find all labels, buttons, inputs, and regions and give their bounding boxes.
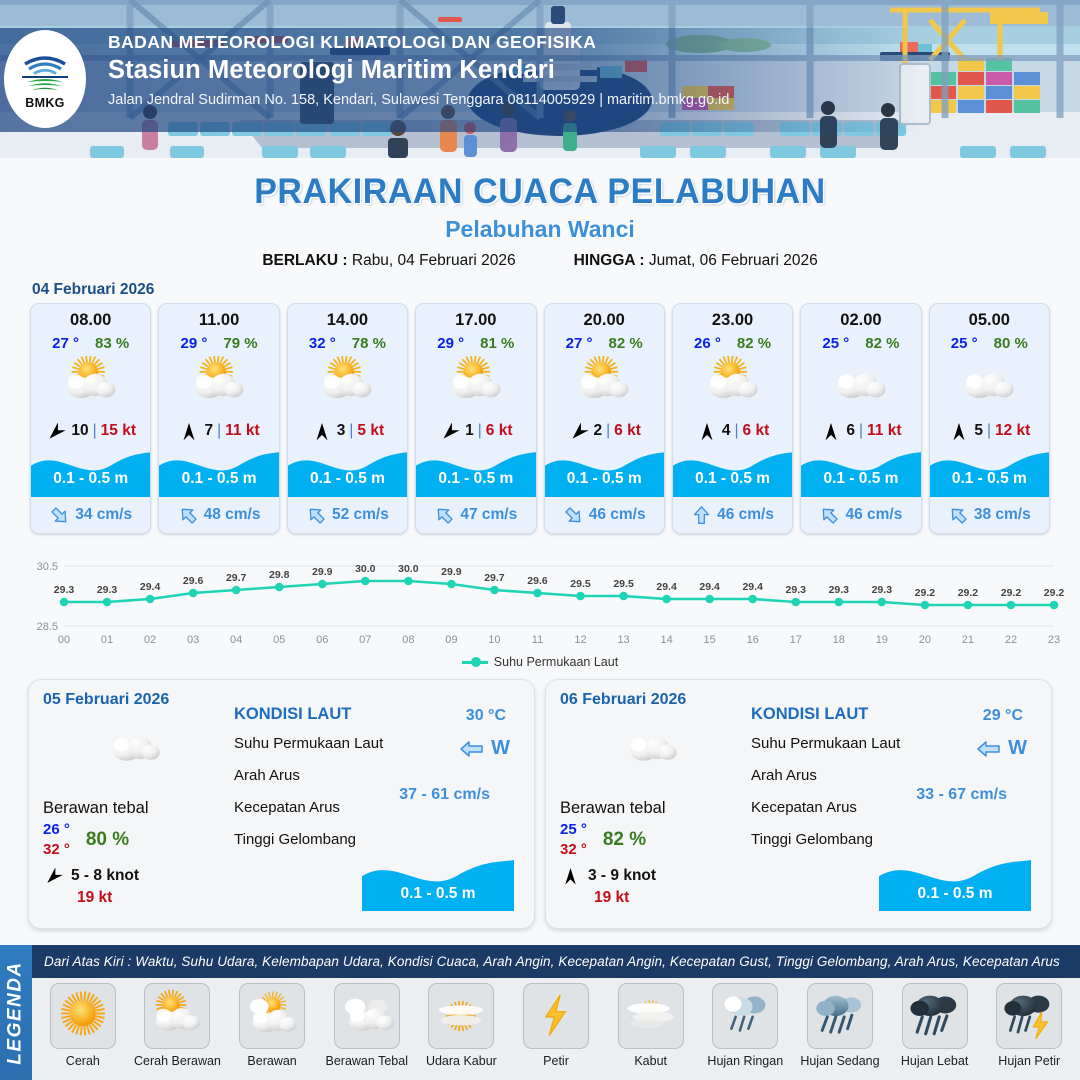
card-current-row: 46 cm/s (545, 497, 664, 533)
current-direction-group: W (459, 737, 510, 760)
port-name: Pelabuhan Wanci (0, 216, 1080, 243)
sea-surface-temperature-value: 30 °C (466, 707, 506, 725)
card-current-speed: 46 cm/s (717, 506, 774, 524)
svg-text:29.3: 29.3 (829, 584, 850, 596)
daily-wind-row: 3 - 9 knot (560, 867, 745, 885)
page-title: PRAKIRAAN CUACA PELABUHAN (16, 172, 1064, 212)
wind-direction-arrow-icon (560, 868, 581, 884)
legend-item: Cerah Berawan (133, 983, 223, 1068)
hourly-card: 20.00 27 ° 82 % 2 | 6 kt 0.1 - (544, 303, 665, 534)
legend-item: Hujan Ringan (700, 983, 790, 1068)
card-humidity: 82 % (609, 335, 643, 352)
card-temp-humidity: 29 ° 79 % (159, 335, 278, 352)
cloudy-icon (956, 356, 1022, 414)
current-direction-arrow-icon (691, 505, 712, 526)
current-direction-arrow-icon (819, 505, 840, 526)
daily-wind-gust: 19 kt (77, 889, 228, 907)
card-wind-row: 2 | 6 kt (545, 419, 664, 443)
card-humidity: 78 % (352, 335, 386, 352)
svg-text:29.7: 29.7 (484, 572, 505, 584)
legend-icon-tile (618, 983, 684, 1049)
svg-text:00: 00 (58, 634, 70, 646)
card-wave-height: 0.1 - 0.5 m (801, 470, 920, 488)
card-current-speed: 46 cm/s (845, 506, 902, 524)
svg-text:21: 21 (962, 634, 974, 646)
wind-direction-arrow-icon (311, 423, 333, 440)
card-air-temperature: 26 ° (694, 335, 721, 352)
card-wave-block: 0.1 - 0.5 m (416, 445, 535, 497)
hourly-card: 02.00 25 ° 82 % 6 | 11 kt 0.1 (800, 303, 921, 534)
daily-sea-col: KONDISI LAUT Suhu Permukaan Laut Arah Ar… (745, 691, 1037, 917)
current-direction-arrow-icon (819, 505, 840, 526)
card-weather-icon-wrap (673, 354, 792, 416)
svg-text:29.9: 29.9 (441, 566, 462, 578)
card-humidity: 80 % (994, 335, 1028, 352)
legend-item: Petir (511, 983, 601, 1068)
station-name: Stasiun Meteorologi Maritim Kendari (108, 56, 729, 85)
card-time: 23.00 (673, 311, 792, 330)
legend-item-label: Petir (543, 1054, 569, 1068)
card-wind-separator: | (606, 422, 610, 440)
card-wind-separator: | (349, 422, 353, 440)
card-wind-separator: | (217, 422, 221, 440)
daily-wave-height: 0.1 - 0.5 m (362, 885, 514, 903)
svg-text:19: 19 (876, 634, 888, 646)
svg-text:29.5: 29.5 (613, 578, 634, 590)
legend-item-label: Hujan Petir (998, 1054, 1060, 1068)
svg-text:14: 14 (660, 634, 672, 646)
card-wind-speed: 3 (337, 422, 346, 440)
card-wave-height: 0.1 - 0.5 m (416, 470, 535, 488)
wind-direction-arrow-icon (439, 423, 461, 440)
current-direction-value: W (491, 737, 510, 760)
wind-direction-arrow-icon (820, 423, 842, 441)
svg-text:29.3: 29.3 (786, 584, 807, 596)
card-temp-humidity: 27 ° 82 % (545, 335, 664, 352)
current-direction-arrow-icon (49, 505, 70, 526)
card-time: 20.00 (545, 311, 664, 330)
card-current-row: 34 cm/s (31, 497, 150, 533)
card-temp-humidity: 29 ° 81 % (416, 335, 535, 352)
svg-text:17: 17 (790, 634, 802, 646)
card-wind-gust: 5 kt (357, 422, 384, 440)
daily-wave-block: 0.1 - 0.5 m (362, 853, 514, 911)
card-wind-gust: 11 kt (225, 422, 259, 440)
cloudy-icon (622, 720, 684, 776)
card-wind-row: 5 | 12 kt (930, 419, 1049, 443)
hourly-card: 11.00 29 ° 79 % 7 | 11 kt 0.1 (158, 303, 279, 534)
card-wind-separator: | (987, 422, 991, 440)
legend-icon-tile (428, 983, 494, 1049)
legend-note: Dari Atas Kiri : Waktu, Suhu Udara, Kele… (32, 945, 1080, 978)
svg-text:20: 20 (919, 634, 931, 646)
svg-text:07: 07 (359, 634, 371, 646)
daily-weather-icon-wrap (43, 717, 228, 779)
current-direction-arrow-icon (306, 505, 327, 526)
current-direction-arrow-icon (434, 505, 455, 526)
arrow-left-icon (459, 739, 485, 759)
daily-condition: Berawan tebal (43, 799, 228, 818)
card-temp-humidity: 27 ° 83 % (31, 335, 150, 352)
sea-surface-temperature-value: 29 °C (983, 707, 1023, 725)
svg-text:01: 01 (101, 634, 113, 646)
card-wind-speed: 2 (594, 422, 603, 440)
daily-wind-range: 3 - 9 knot (588, 867, 656, 885)
partly-cloudy-icon (186, 356, 252, 414)
legend-item-label: Hujan Ringan (707, 1054, 783, 1068)
arrow-left-icon (976, 739, 1002, 759)
svg-text:06: 06 (316, 634, 328, 646)
current-direction-arrow-icon (306, 505, 327, 526)
bmkg-logo: BMKG (4, 30, 86, 128)
agency-name: BADAN METEOROLOGI KLIMATOLOGI DAN GEOFIS… (108, 32, 729, 53)
hourly-card: 05.00 25 ° 80 % 5 | 12 kt 0.1 (929, 303, 1050, 534)
legend-item-label: Cerah Berawan (134, 1054, 221, 1068)
card-current-speed: 48 cm/s (204, 506, 261, 524)
svg-text:30.5: 30.5 (37, 561, 58, 573)
svg-text:03: 03 (187, 634, 199, 646)
card-weather-icon-wrap (801, 354, 920, 416)
svg-text:12: 12 (574, 634, 586, 646)
card-weather-icon-wrap (545, 354, 664, 416)
card-wind-gust: 11 kt (867, 422, 901, 440)
legend-section: LEGENDA Dari Atas Kiri : Waktu, Suhu Uda… (0, 945, 1080, 1080)
legend-item-label: Kabut (634, 1054, 667, 1068)
legend-icon-tile (807, 983, 873, 1049)
daily-temp-max: 32 ° (43, 840, 70, 860)
card-current-row: 47 cm/s (416, 497, 535, 533)
card-wind-gust: 6 kt (614, 422, 641, 440)
card-wind-speed: 1 (465, 422, 474, 440)
svg-text:29.3: 29.3 (872, 584, 893, 596)
wind-direction-arrow-icon (820, 423, 842, 440)
partly-cloudy-icon (700, 356, 766, 414)
svg-text:29.4: 29.4 (699, 581, 720, 593)
validity-row: BERLAKU : Rabu, 04 Februari 2026 HINGGA … (0, 252, 1080, 270)
cloudy-icon (105, 720, 167, 776)
current-direction-arrow-icon (691, 505, 712, 526)
wind-direction-arrow-icon (696, 423, 718, 441)
card-wind-row: 1 | 6 kt (416, 419, 535, 443)
svg-text:09: 09 (445, 634, 457, 646)
wind-direction-arrow-icon (948, 423, 970, 440)
card-humidity: 81 % (480, 335, 514, 352)
card-wind-gust: 15 kt (101, 422, 136, 440)
card-wave-block: 0.1 - 0.5 m (801, 445, 920, 497)
haze-icon (433, 988, 489, 1044)
daily-temps-row: 25 ° 32 ° 82 % (560, 820, 745, 859)
hourly-card: 14.00 32 ° 78 % 3 | 5 kt 0.1 - (287, 303, 408, 534)
legend-item: Berawan Tebal (322, 983, 412, 1068)
page-header: BMKG BADAN METEOROLOGI KLIMATOLOGI DAN G… (0, 0, 1080, 158)
hourly-card: 08.00 27 ° 83 % 10 | 15 kt 0.1 (30, 303, 151, 534)
thunderstorm-icon (1001, 988, 1057, 1044)
svg-text:02: 02 (144, 634, 156, 646)
sst-chart: 30.528.529.30029.30129.40229.60329.70429… (16, 548, 1064, 653)
hourly-date-label: 04 Februari 2026 (32, 281, 1080, 299)
legend-item-label: Berawan (247, 1054, 296, 1068)
sun-cloud-icon (149, 988, 205, 1044)
legend-icon-tile (50, 983, 116, 1049)
svg-text:29.7: 29.7 (226, 572, 247, 584)
card-wind-row: 6 | 11 kt (801, 419, 920, 443)
card-weather-icon-wrap (159, 354, 278, 416)
daily-wind-row: 5 - 8 knot (43, 867, 228, 885)
card-wind-speed: 7 (204, 422, 213, 440)
daily-humidity: 80 % (86, 829, 129, 851)
card-wind-speed: 5 (974, 422, 983, 440)
bmkg-logo-label: BMKG (25, 96, 64, 110)
card-wave-height: 0.1 - 0.5 m (545, 470, 664, 488)
current-direction-arrow-icon (178, 505, 199, 526)
legend-icon-tile (523, 983, 589, 1049)
sst-chart-canvas: 30.528.529.30029.30129.40229.60329.70429… (16, 548, 1064, 653)
partly-cloudy-icon (58, 356, 124, 414)
current-direction-arrow-icon (563, 505, 584, 526)
wind-direction-arrow-icon (696, 423, 718, 440)
legend-item: Kabut (606, 983, 696, 1068)
moderate-rain-icon (812, 988, 868, 1044)
current-speed-value: 33 - 67 cm/s (916, 786, 1007, 804)
partly-cloudy-icon (571, 356, 637, 414)
hingga-label: HINGGA : (574, 252, 645, 269)
hourly-forecast-row: 08.00 27 ° 83 % 10 | 15 kt 0.1 (0, 303, 1080, 534)
svg-text:29.5: 29.5 (570, 578, 591, 590)
card-wave-block: 0.1 - 0.5 m (159, 445, 278, 497)
lightning-icon (528, 988, 584, 1044)
card-wind-row: 10 | 15 kt (31, 419, 150, 443)
card-weather-icon-wrap (288, 354, 407, 416)
sun-icon (55, 988, 111, 1044)
legend-item: Hujan Petir (984, 983, 1074, 1068)
card-temp-humidity: 25 ° 82 % (801, 335, 920, 352)
card-temp-humidity: 26 ° 82 % (673, 335, 792, 352)
card-current-speed: 34 cm/s (75, 506, 132, 524)
wind-direction-arrow-icon (568, 423, 590, 440)
card-current-row: 46 cm/s (801, 497, 920, 533)
card-wind-separator: | (93, 422, 97, 440)
card-current-speed: 52 cm/s (332, 506, 389, 524)
card-wave-height: 0.1 - 0.5 m (31, 470, 150, 488)
wind-direction-arrow-icon (43, 868, 64, 884)
card-time: 17.00 (416, 311, 535, 330)
card-current-row: 46 cm/s (673, 497, 792, 533)
daily-wind-range: 5 - 8 knot (71, 867, 139, 885)
title-block: PRAKIRAAN CUACA PELABUHAN Pelabuhan Wanc… (0, 172, 1080, 270)
svg-text:05: 05 (273, 634, 285, 646)
current-speed-value: 37 - 61 cm/s (399, 786, 490, 804)
current-direction-arrow-icon (563, 505, 584, 526)
card-wave-block: 0.1 - 0.5 m (545, 445, 664, 497)
hourly-card: 23.00 26 ° 82 % 4 | 6 kt 0.1 - (672, 303, 793, 534)
card-air-temperature: 29 ° (181, 335, 208, 352)
card-current-speed: 47 cm/s (460, 506, 517, 524)
daily-date: 05 Februari 2026 (43, 691, 228, 709)
daily-temp-min: 26 ° (43, 820, 70, 840)
legend-side-bar: LEGENDA (0, 945, 32, 1080)
daily-left-col: 05 Februari 2026 Berawan tebal 26 ° 32 °… (43, 691, 228, 917)
svg-text:29.8: 29.8 (269, 569, 290, 581)
bmkg-logo-mark (19, 49, 71, 95)
daily-temp-min: 25 ° (560, 820, 587, 840)
legend-side-label: LEGENDA (5, 961, 27, 1064)
card-wave-block: 0.1 - 0.5 m (930, 445, 1049, 497)
daily-forecast-panel: 05 Februari 2026 Berawan tebal 26 ° 32 °… (28, 679, 535, 929)
card-humidity: 83 % (95, 335, 129, 352)
heavy-rain-icon (907, 988, 963, 1044)
svg-text:29.3: 29.3 (54, 584, 75, 596)
card-wind-gust: 12 kt (995, 422, 1030, 440)
card-current-row: 52 cm/s (288, 497, 407, 533)
card-wind-speed: 10 (71, 422, 88, 440)
card-time: 08.00 (31, 311, 150, 330)
card-wave-block: 0.1 - 0.5 m (31, 445, 150, 497)
svg-text:13: 13 (617, 634, 629, 646)
svg-text:04: 04 (230, 634, 242, 646)
wind-direction-arrow-icon (948, 423, 970, 441)
legend-line-swatch (462, 661, 488, 664)
berlaku-value: Rabu, 04 Februari 2026 (352, 252, 516, 269)
wind-direction-arrow-icon (439, 423, 461, 441)
legend-label: Suhu Permukaan Laut (494, 655, 618, 669)
card-time: 14.00 (288, 311, 407, 330)
daily-temps-row: 26 ° 32 ° 80 % (43, 820, 228, 859)
legend-icon-tile (144, 983, 210, 1049)
svg-text:29.2: 29.2 (1001, 587, 1022, 599)
card-temp-humidity: 25 ° 80 % (930, 335, 1049, 352)
sst-chart-legend: Suhu Permukaan Laut (0, 655, 1080, 669)
current-direction-value: W (1008, 737, 1027, 760)
sea-row-label: Tinggi Gelombang (751, 823, 1037, 855)
daily-forecast-panel: 06 Februari 2026 Berawan tebal 25 ° 32 °… (545, 679, 1052, 929)
partly-cloudy-icon (314, 356, 380, 414)
wind-direction-arrow-icon (178, 423, 200, 440)
svg-text:29.6: 29.6 (183, 575, 204, 587)
partly-cloudy-icon (443, 356, 509, 414)
svg-text:22: 22 (1005, 634, 1017, 646)
card-humidity: 82 % (737, 335, 771, 352)
wind-direction-arrow-icon (45, 423, 67, 440)
berlaku-group: BERLAKU : Rabu, 04 Februari 2026 (262, 252, 515, 270)
legend-item-label: Hujan Sedang (800, 1054, 879, 1068)
current-direction-arrow-icon (434, 505, 455, 526)
wind-direction-arrow-icon (45, 423, 67, 441)
svg-text:23: 23 (1048, 634, 1060, 646)
card-wave-block: 0.1 - 0.5 m (673, 445, 792, 497)
card-wave-height: 0.1 - 0.5 m (930, 470, 1049, 488)
legend-item-label: Udara Kabur (426, 1054, 497, 1068)
card-wind-speed: 6 (846, 422, 855, 440)
current-direction-arrow-icon (49, 505, 70, 526)
legend-item: Berawan (227, 983, 317, 1068)
card-time: 02.00 (801, 311, 920, 330)
card-humidity: 82 % (865, 335, 899, 352)
legend-item-label: Hujan Lebat (901, 1054, 968, 1068)
hourly-card: 17.00 29 ° 81 % 1 | 6 kt 0.1 - (415, 303, 536, 534)
svg-text:30.0: 30.0 (355, 563, 376, 575)
card-weather-icon-wrap (930, 354, 1049, 416)
card-weather-icon-wrap (416, 354, 535, 416)
legend-items-row: Cerah Cerah Berawan Berawan (32, 978, 1080, 1068)
card-wind-row: 4 | 6 kt (673, 419, 792, 443)
card-time: 11.00 (159, 311, 278, 330)
daily-temp-col: 25 ° 32 ° (560, 820, 587, 859)
svg-text:29.4: 29.4 (742, 581, 763, 593)
card-wind-separator: | (735, 422, 739, 440)
legend-item: Hujan Sedang (795, 983, 885, 1068)
card-air-temperature: 27 ° (52, 335, 79, 352)
svg-text:29.6: 29.6 (527, 575, 548, 587)
card-wave-height: 0.1 - 0.5 m (673, 470, 792, 488)
sea-row-label: Tinggi Gelombang (234, 823, 520, 855)
legend-icon-tile (334, 983, 400, 1049)
wind-direction-arrow-icon (560, 868, 581, 886)
card-wave-height: 0.1 - 0.5 m (288, 470, 407, 488)
daily-weather-icon-wrap (560, 717, 745, 779)
card-air-temperature: 27 ° (566, 335, 593, 352)
card-current-speed: 46 cm/s (589, 506, 646, 524)
current-direction-arrow-icon (948, 505, 969, 526)
daily-left-col: 06 Februari 2026 Berawan tebal 25 ° 32 °… (560, 691, 745, 917)
legend-item: Udara Kabur (417, 983, 507, 1068)
daily-wave-block: 0.1 - 0.5 m (879, 853, 1031, 911)
legend-item: Cerah (38, 983, 128, 1068)
svg-text:18: 18 (833, 634, 845, 646)
card-current-row: 48 cm/s (159, 497, 278, 533)
svg-text:10: 10 (488, 634, 500, 646)
svg-text:29.2: 29.2 (958, 587, 979, 599)
daily-temp-col: 26 ° 32 ° (43, 820, 70, 859)
card-wind-separator: | (859, 422, 863, 440)
svg-text:08: 08 (402, 634, 414, 646)
wind-direction-arrow-icon (178, 423, 200, 441)
daily-humidity: 82 % (603, 829, 646, 851)
card-wind-gust: 6 kt (486, 422, 513, 440)
card-humidity: 79 % (223, 335, 257, 352)
hingga-value: Jumat, 06 Februari 2026 (649, 252, 818, 269)
daily-wind-gust: 19 kt (594, 889, 745, 907)
svg-text:29.4: 29.4 (140, 581, 161, 593)
card-current-speed: 38 cm/s (974, 506, 1031, 524)
card-current-row: 38 cm/s (930, 497, 1049, 533)
card-time: 05.00 (930, 311, 1049, 330)
legend-icon-tile (712, 983, 778, 1049)
svg-text:28.5: 28.5 (37, 621, 58, 633)
cloudy-icon (828, 356, 894, 414)
clouds-icon (339, 988, 395, 1044)
card-air-temperature: 25 ° (951, 335, 978, 352)
card-wind-row: 7 | 11 kt (159, 419, 278, 443)
svg-text:11: 11 (532, 634, 543, 646)
wind-direction-arrow-icon (311, 423, 333, 441)
svg-text:29.4: 29.4 (656, 581, 677, 593)
card-wave-height: 0.1 - 0.5 m (159, 470, 278, 488)
svg-text:30.0: 30.0 (398, 563, 419, 575)
card-air-temperature: 29 ° (437, 335, 464, 352)
fog-icon (623, 988, 679, 1044)
current-direction-arrow-icon (948, 505, 969, 526)
current-direction-group: W (976, 737, 1027, 760)
wind-direction-arrow-icon (568, 423, 590, 441)
card-wave-block: 0.1 - 0.5 m (288, 445, 407, 497)
card-wind-separator: | (478, 422, 482, 440)
cloud-sun-dim-icon (244, 988, 300, 1044)
svg-text:29.2: 29.2 (1044, 587, 1064, 599)
legend-icon-tile (996, 983, 1062, 1049)
station-address: Jalan Jendral Sudirman No. 158, Kendari,… (108, 92, 729, 108)
legend-icon-tile (902, 983, 968, 1049)
card-weather-icon-wrap (31, 354, 150, 416)
